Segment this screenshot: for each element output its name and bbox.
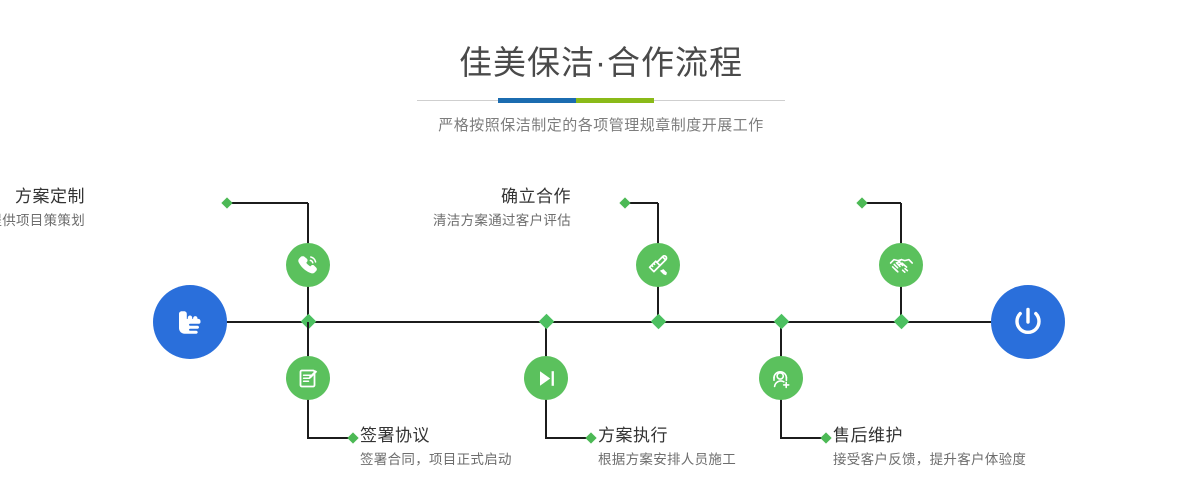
step-4-icon-badge[interactable]: [524, 356, 568, 400]
step-2-title: 签署协议: [360, 425, 512, 447]
phone-call-icon: [295, 252, 321, 278]
step-4-arm: [546, 437, 590, 439]
step-5-desc: 清洁方案通过客户评估: [433, 211, 571, 231]
step-6-icon-badge[interactable]: [759, 356, 803, 400]
step-1-icon-badge[interactable]: [286, 243, 330, 287]
step-1-label-marker: [221, 197, 232, 208]
customer-service-add-icon: [769, 366, 794, 391]
step-2-label: 签署协议 签署合同，项目正式启动: [360, 425, 512, 470]
step-6-label-marker: [820, 432, 831, 443]
step-2-label-marker: [347, 432, 358, 443]
step-5-icon-badge[interactable]: [879, 243, 923, 287]
step-2-arm: [308, 437, 352, 439]
step-6-main-marker: [773, 314, 789, 330]
power-icon: [1007, 301, 1049, 343]
step-4-main-marker: [538, 314, 554, 330]
ruler-pencil-icon: [645, 252, 671, 278]
step-2-icon-badge[interactable]: [286, 356, 330, 400]
step-3-title: 方案定制: [0, 186, 85, 208]
step-3-icon-badge[interactable]: [636, 243, 680, 287]
handshake-icon: [888, 252, 915, 279]
step-5-label-marker: [856, 197, 867, 208]
pointing-hand-icon: [170, 302, 210, 342]
process-flow-infographic: 佳美保洁·合作流程 严格按照保洁制定的各项管理规章制度开展工作: [0, 0, 1202, 502]
step-6-label: 售后维护 接受客户反馈，提升客户体验度: [833, 425, 1026, 470]
step-4-label-marker: [585, 432, 596, 443]
step-2-desc: 签署合同，项目正式启动: [360, 450, 512, 470]
document-edit-icon: [296, 366, 321, 391]
step-6-title: 售后维护: [833, 425, 1026, 447]
step-4-desc: 根据方案安排人员施工: [598, 450, 736, 470]
step-6-arm: [781, 437, 825, 439]
timeline-main-line: [218, 321, 998, 323]
timeline-end-node[interactable]: [991, 285, 1065, 359]
timeline-start-node[interactable]: [153, 285, 227, 359]
step-4-title: 方案执行: [598, 425, 736, 447]
step-4-label: 方案执行 根据方案安排人员施工: [598, 425, 736, 470]
step-3-desc: 为客户提供项目策策划: [0, 211, 85, 231]
step-1-arm: [227, 202, 308, 204]
step-3-label: 方案定制 为客户提供项目策策划: [0, 186, 85, 231]
play-skip-icon: [534, 366, 559, 391]
step-5-label: 确立合作 清洁方案通过客户评估: [433, 186, 571, 231]
step-6-desc: 接受客户反馈，提升客户体验度: [833, 450, 1026, 470]
timeline: 电话咨询 阐明基本情况和需求: [0, 0, 1202, 502]
step-3-label-marker: [619, 197, 630, 208]
step-5-title: 确立合作: [433, 186, 571, 208]
step-3-main-marker: [650, 314, 666, 330]
step-5-main-marker: [893, 314, 909, 330]
